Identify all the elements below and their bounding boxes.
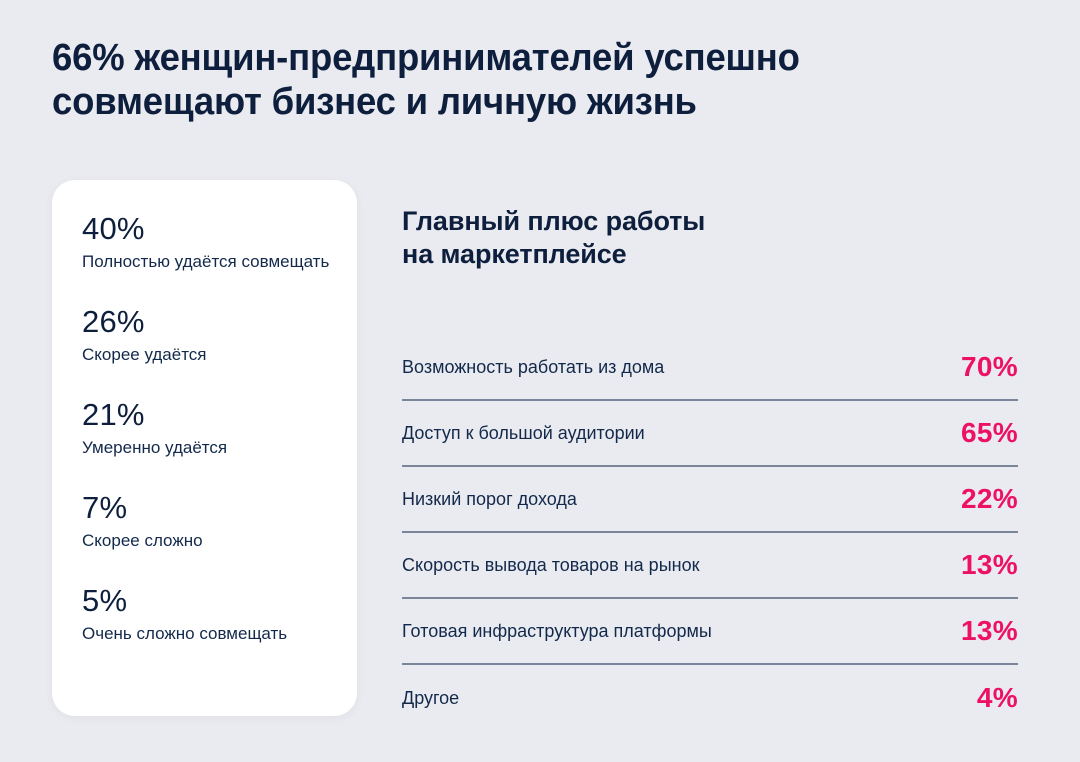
stat-label: Скорее удаётся (82, 343, 332, 366)
list-item: Возможность работать из дома 70% (402, 335, 1018, 401)
page-title: 66% женщин-предпринимателей успешно совм… (52, 36, 993, 124)
stat-label: Скорее сложно (82, 529, 332, 552)
page-title-line-2: совмещают бизнес и личную жизнь (52, 80, 993, 124)
stat-item: 40% Полностью удаётся совмещать (82, 210, 333, 273)
benefit-label: Низкий порог дохода (402, 487, 577, 511)
list-item: Другое 4% (402, 665, 1018, 731)
benefit-label: Возможность работать из дома (402, 355, 664, 379)
stat-label: Умеренно удаётся (82, 436, 332, 459)
stat-value: 5% (82, 582, 333, 620)
stat-item: 21% Умеренно удаётся (82, 396, 333, 459)
panel-title-line-2: на маркетплейсе (402, 238, 1018, 271)
benefit-value: 13% (928, 615, 1018, 647)
benefit-value: 65% (928, 417, 1018, 449)
benefit-value: 4% (928, 682, 1018, 714)
list-item: Готовая инфраструктура платформы 13% (402, 599, 1018, 665)
page-title-line-1: 66% женщин-предпринимателей успешно (52, 36, 993, 80)
benefit-label: Скорость вывода товаров на рынок (402, 553, 699, 577)
benefit-label: Другое (402, 686, 459, 710)
panel-title: Главный плюс работы на маркетплейсе (402, 205, 1018, 271)
benefit-label: Доступ к большой аудитории (402, 421, 645, 445)
stat-label: Полностью удаётся совмещать (82, 250, 332, 273)
marketplace-benefits-panel: Главный плюс работы на маркетплейсе Возм… (402, 205, 1018, 731)
benefit-label: Готовая инфраструктура платформы (402, 619, 712, 643)
stat-value: 40% (82, 210, 333, 248)
benefits-list: Возможность работать из дома 70% Доступ … (402, 335, 1018, 731)
panel-title-line-1: Главный плюс работы (402, 205, 1018, 238)
list-item: Доступ к большой аудитории 65% (402, 401, 1018, 467)
list-item: Скорость вывода товаров на рынок 13% (402, 533, 1018, 599)
list-item: Низкий порог дохода 22% (402, 467, 1018, 533)
stat-item: 5% Очень сложно совмещать (82, 582, 333, 645)
stat-item: 26% Скорее удаётся (82, 303, 333, 366)
stat-value: 21% (82, 396, 333, 434)
stat-value: 7% (82, 489, 333, 527)
stat-value: 26% (82, 303, 333, 341)
benefit-value: 70% (928, 351, 1018, 383)
stats-card: 40% Полностью удаётся совмещать 26% Скор… (52, 180, 357, 716)
stat-item: 7% Скорее сложно (82, 489, 333, 552)
stat-label: Очень сложно совмещать (82, 622, 332, 645)
benefit-value: 13% (928, 549, 1018, 581)
benefit-value: 22% (928, 483, 1018, 515)
